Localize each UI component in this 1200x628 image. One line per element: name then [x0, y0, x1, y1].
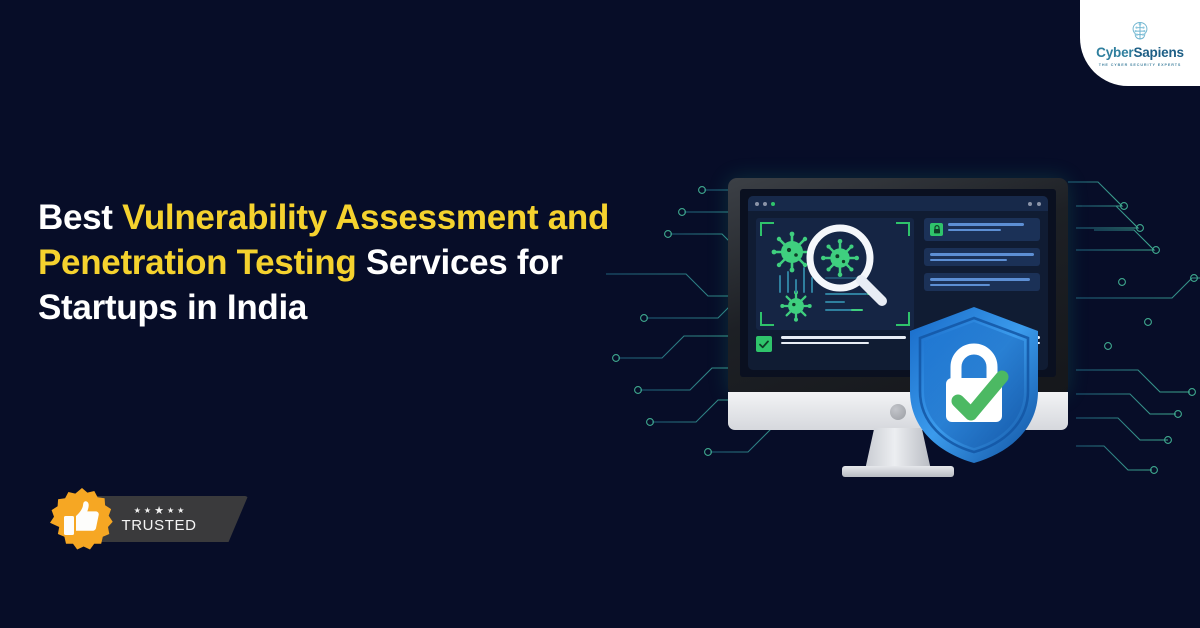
page-title: Best Vulnerability Assessment and Penetr…	[38, 196, 678, 330]
window-dot-extra-1	[1028, 202, 1032, 206]
brand-logo[interactable]: CyberSapiens THE CYBER SECURITY EXPERTS	[1080, 0, 1200, 86]
star-rating: ★ ★ ★ ★ ★	[134, 506, 185, 517]
window-dot-maximize	[771, 202, 775, 206]
checkmark-icon	[756, 336, 772, 352]
window-dot-extra-2	[1037, 202, 1041, 206]
magnifying-glass-icon	[800, 220, 896, 316]
window-dot-close	[755, 202, 759, 206]
hero-banner: Best Vulnerability Assessment and Penetr…	[0, 0, 1200, 628]
trusted-badge: ★ ★ ★ ★ ★ TRUSTED	[48, 486, 248, 552]
star-icon: ★	[134, 507, 141, 515]
shield-lock-icon	[906, 305, 1042, 465]
monitor-power-button	[890, 404, 906, 420]
star-icon: ★	[177, 507, 184, 515]
list-item	[924, 248, 1040, 266]
brain-circuit-icon	[1127, 19, 1153, 45]
browser-titlebar	[748, 196, 1048, 211]
brand-tagline: THE CYBER SECURITY EXPERTS	[1099, 63, 1182, 67]
trusted-label: TRUSTED	[121, 518, 196, 533]
brand-name-part1: Cyber	[1096, 45, 1133, 60]
lock-icon	[930, 223, 943, 236]
hero-illustration	[606, 150, 1200, 490]
star-icon: ★	[154, 506, 164, 517]
brand-name: CyberSapiens	[1096, 46, 1184, 60]
star-icon: ★	[144, 507, 151, 515]
thumbs-up-icon	[48, 486, 116, 552]
star-icon: ★	[167, 507, 174, 515]
brand-name-part2: Sapiens	[1133, 45, 1183, 60]
monitor-stand-base	[842, 466, 954, 477]
window-dot-minimize	[763, 202, 767, 206]
headline-lead: Best	[38, 198, 122, 237]
list-item	[924, 273, 1040, 291]
list-item	[924, 218, 1040, 241]
findings-list	[924, 218, 1040, 298]
